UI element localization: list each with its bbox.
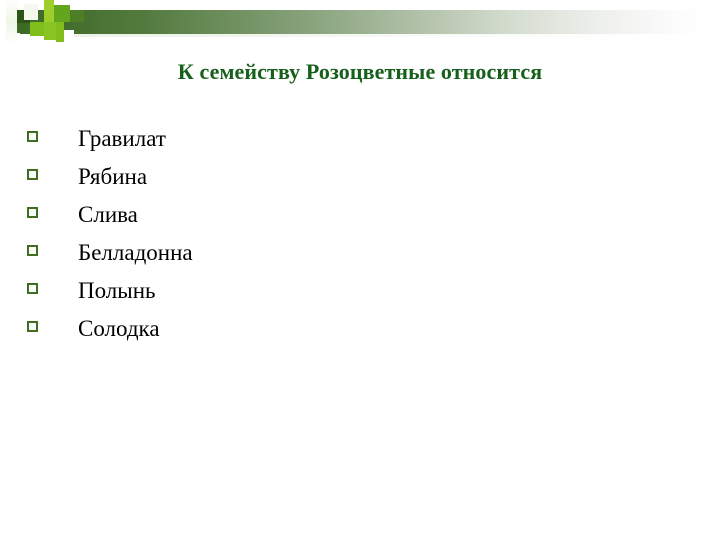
list-item-label: Слива (78, 196, 138, 234)
bullet-list: Гравилат Рябина Слива Белладонна Полынь … (0, 120, 720, 348)
hollow-square-bullet-icon (27, 131, 38, 142)
list-item-label: Белладонна (78, 234, 193, 272)
list-item: Полынь (0, 272, 720, 310)
decorative-square-pale-a (24, 4, 38, 20)
list-item-label: Солодка (78, 310, 160, 348)
hollow-square-bullet-icon (27, 207, 38, 218)
decorative-square-green-a (54, 5, 70, 22)
list-item: Слива (0, 196, 720, 234)
header-gradient-bar (20, 10, 720, 34)
decorative-square-lime-b (44, 0, 54, 22)
decorative-square-pale-b (64, 30, 74, 42)
hollow-square-bullet-icon (27, 245, 38, 256)
slide-header-decoration (0, 0, 720, 48)
page-title: К семейству Розоцветные относится (0, 58, 720, 86)
header-underline (56, 34, 656, 37)
list-item-label: Полынь (78, 272, 156, 310)
list-item: Гравилат (0, 120, 720, 158)
list-item: Белладонна (0, 234, 720, 272)
decorative-square-lime-c (44, 22, 56, 40)
list-item-label: Рябина (78, 158, 147, 196)
hollow-square-bullet-icon (27, 169, 38, 180)
list-item-label: Гравилат (78, 120, 166, 158)
hollow-square-bullet-icon (27, 321, 38, 332)
decorative-square-lime-a (30, 22, 44, 36)
decorative-square-green-b (56, 22, 64, 42)
decorative-square-green-c (70, 10, 84, 22)
decorative-square-dark-lower (17, 23, 27, 33)
list-item: Солодка (0, 310, 720, 348)
hollow-square-bullet-icon (27, 283, 38, 294)
list-item: Рябина (0, 158, 720, 196)
